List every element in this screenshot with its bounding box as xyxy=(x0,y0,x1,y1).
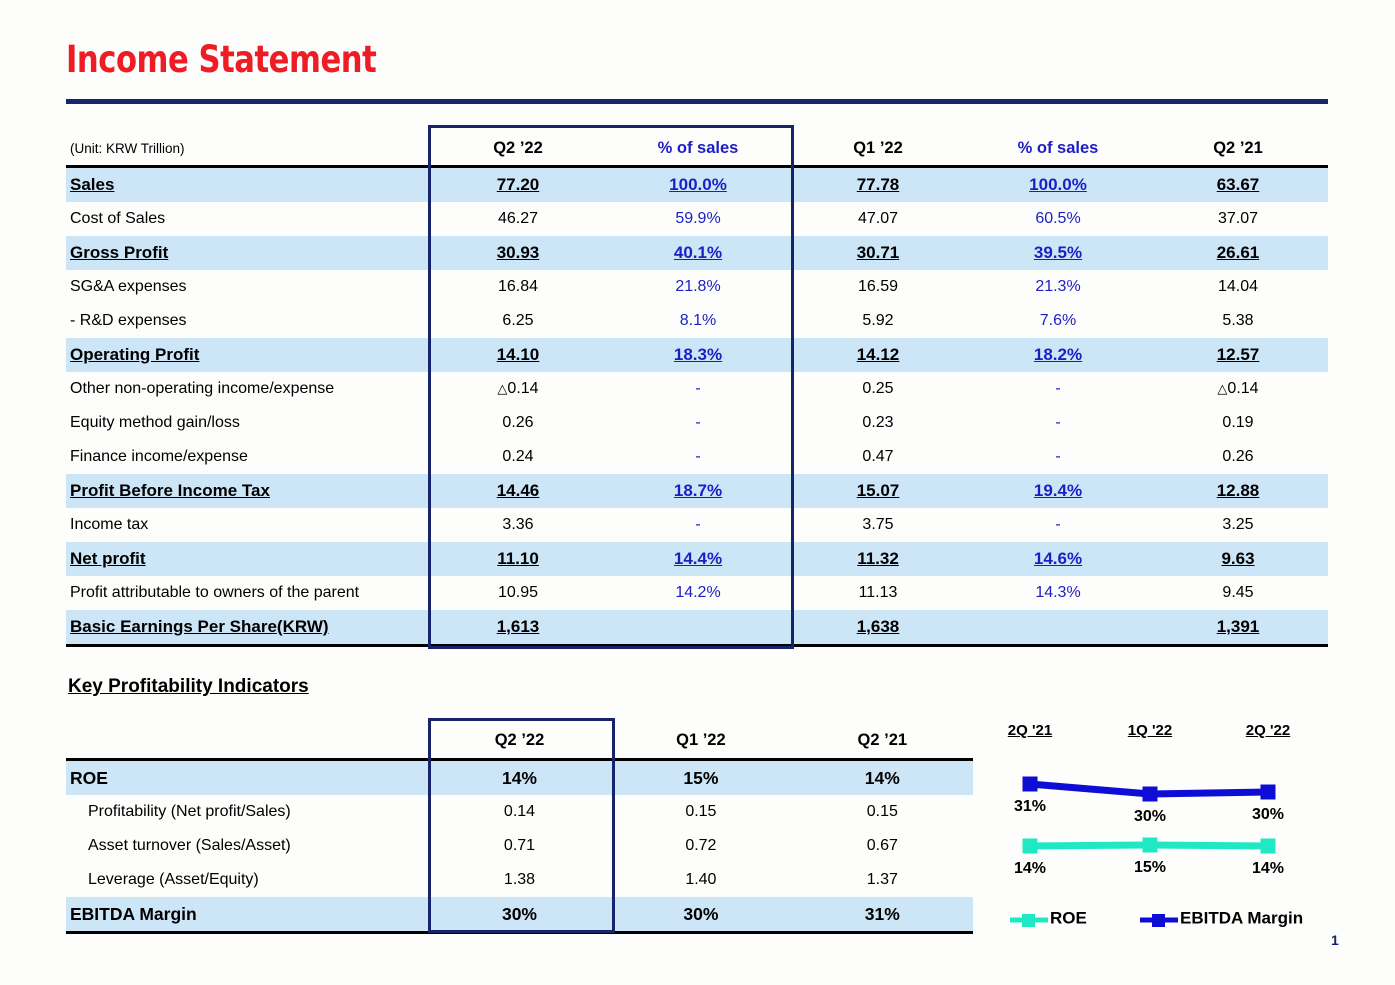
profitability-trend-chart: 2Q '211Q '222Q '2231%30%30%14%15%14% xyxy=(985,722,1315,937)
cell-value: 14.12 xyxy=(788,338,968,372)
table-header-row: (Unit: KRW Trillion)Q2 ’22% of salesQ1 ’… xyxy=(66,131,1328,167)
column-header-4: % of sales xyxy=(968,131,1148,167)
row-label: Finance income/expense xyxy=(66,440,428,474)
table-row: Gross Profit30.9340.1%30.7139.5%26.61 xyxy=(66,236,1328,270)
chart-marker xyxy=(1143,838,1158,853)
cell-value: 77.78 xyxy=(788,167,968,203)
kpi-row-label: EBITDA Margin xyxy=(66,897,429,933)
cell-value: 10.95 xyxy=(428,576,608,610)
kpi-cell-value: 14% xyxy=(792,760,973,796)
cell-value: 5.92 xyxy=(788,304,968,338)
cell-value: 16.84 xyxy=(428,270,608,304)
cell-value: 21.3% xyxy=(968,270,1148,304)
cell-value: 18.3% xyxy=(608,338,788,372)
cell-value: 9.63 xyxy=(1148,542,1328,576)
unit-note: (Unit: KRW Trillion) xyxy=(66,131,428,167)
legend-item-ebitda-margin: EBITDA Margin xyxy=(1140,908,1303,929)
cell-value: 15.07 xyxy=(788,474,968,508)
page-title: Income Statement xyxy=(66,38,376,81)
row-label: - R&D expenses xyxy=(66,304,428,338)
table-row: Equity method gain/loss0.26-0.23-0.19 xyxy=(66,406,1328,440)
cell-value: 14.04 xyxy=(1148,270,1328,304)
cell-value: 59.9% xyxy=(608,202,788,236)
cell-value: - xyxy=(968,406,1148,440)
kpi-row: Leverage (Asset/Equity)1.381.401.37 xyxy=(66,863,973,897)
cell-value: 14.2% xyxy=(608,576,788,610)
cell-value: 26.61 xyxy=(1148,236,1328,270)
legend-item-roe: ROE xyxy=(1010,908,1087,929)
table-row: Profit Before Income Tax14.4618.7%15.071… xyxy=(66,474,1328,508)
kpi-column-header-1: Q2 ’22 xyxy=(429,722,610,760)
cell-value: △0.14 xyxy=(1148,372,1328,406)
cell-value: 0.25 xyxy=(788,372,968,406)
cell-value: 14.3% xyxy=(968,576,1148,610)
legend-label: EBITDA Margin xyxy=(1180,909,1303,928)
row-label: Basic Earnings Per Share(KRW) xyxy=(66,610,428,646)
chart-category-header: 1Q '22 xyxy=(1110,722,1190,739)
cell-value: 14.46 xyxy=(428,474,608,508)
row-label: Equity method gain/loss xyxy=(66,406,428,440)
chart-marker xyxy=(1023,839,1038,854)
cell-value: 0.47 xyxy=(788,440,968,474)
chart-marker xyxy=(1261,785,1276,800)
chart-data-label: 14% xyxy=(1233,860,1303,878)
cell-value: - xyxy=(608,372,788,406)
kpi-row-label: Leverage (Asset/Equity) xyxy=(66,863,429,897)
cell-value xyxy=(608,610,788,646)
chart-data-label: 14% xyxy=(995,860,1065,878)
cell-value: 14.6% xyxy=(968,542,1148,576)
row-label: Profit attributable to owners of the par… xyxy=(66,576,428,610)
kpi-section-title: Key Profitability Indicators xyxy=(68,676,309,698)
kpi-column-header-2: Q1 ’22 xyxy=(610,722,791,760)
legend-swatch xyxy=(1010,912,1048,926)
column-header-1: Q2 ’22 xyxy=(428,131,608,167)
cell-value: 0.19 xyxy=(1148,406,1328,440)
cell-value: - xyxy=(608,440,788,474)
table-row: Operating Profit14.1018.3%14.1218.2%12.5… xyxy=(66,338,1328,372)
kpi-cell-value: 14% xyxy=(429,760,610,796)
cell-value: 0.26 xyxy=(428,406,608,440)
cell-value: 30.71 xyxy=(788,236,968,270)
row-label: Other non-operating income/expense xyxy=(66,372,428,406)
kpi-cell-value: 1.40 xyxy=(610,863,791,897)
cell-value: 12.57 xyxy=(1148,338,1328,372)
cell-value: - xyxy=(968,440,1148,474)
table-row: Basic Earnings Per Share(KRW)1,6131,6381… xyxy=(66,610,1328,646)
cell-value: 3.25 xyxy=(1148,508,1328,542)
cell-value: - xyxy=(968,508,1148,542)
cell-value: 16.59 xyxy=(788,270,968,304)
table-row: Sales77.20100.0%77.78100.0%63.67 xyxy=(66,167,1328,203)
kpi-cell-value: 0.15 xyxy=(610,795,791,829)
row-label: Operating Profit xyxy=(66,338,428,372)
row-label: Income tax xyxy=(66,508,428,542)
cell-value: 14.4% xyxy=(608,542,788,576)
table-row: Profit attributable to owners of the par… xyxy=(66,576,1328,610)
column-header-5: Q2 ’21 xyxy=(1148,131,1328,167)
cell-value: 0.26 xyxy=(1148,440,1328,474)
table-row: Income tax3.36-3.75-3.25 xyxy=(66,508,1328,542)
chart-legend: ROEEBITDA Margin xyxy=(1010,908,1310,938)
kpi-row-label: Profitability (Net profit/Sales) xyxy=(66,795,429,829)
kpi-cell-value: 0.71 xyxy=(429,829,610,863)
cell-value: 14.10 xyxy=(428,338,608,372)
table-row: Finance income/expense0.24-0.47-0.26 xyxy=(66,440,1328,474)
row-label: Profit Before Income Tax xyxy=(66,474,428,508)
cell-value: 100.0% xyxy=(968,167,1148,203)
kpi-header-blank xyxy=(66,722,429,760)
legend-swatch xyxy=(1140,912,1178,926)
row-label: Sales xyxy=(66,167,428,203)
cell-value: 39.5% xyxy=(968,236,1148,270)
page-number: 1 xyxy=(1331,932,1339,948)
kpi-cell-value: 15% xyxy=(610,760,791,796)
kpi-cell-value: 0.72 xyxy=(610,829,791,863)
cell-value: - xyxy=(968,372,1148,406)
title-divider xyxy=(66,99,1328,104)
cell-value: 6.25 xyxy=(428,304,608,338)
kpi-cell-value: 31% xyxy=(792,897,973,933)
cell-value: 40.1% xyxy=(608,236,788,270)
chart-category-header: 2Q '21 xyxy=(990,722,1070,739)
kpi-cell-value: 1.37 xyxy=(792,863,973,897)
cell-value: 18.7% xyxy=(608,474,788,508)
legend-label: ROE xyxy=(1050,909,1087,928)
kpi-row-label: ROE xyxy=(66,760,429,796)
cell-value: 18.2% xyxy=(968,338,1148,372)
chart-marker xyxy=(1023,777,1038,792)
table-row: Other non-operating income/expense△0.14-… xyxy=(66,372,1328,406)
kpi-cell-value: 0.15 xyxy=(792,795,973,829)
kpi-column-header-3: Q2 ’21 xyxy=(792,722,973,760)
row-label: SG&A expenses xyxy=(66,270,428,304)
chart-svg xyxy=(985,722,1315,937)
column-header-3: Q1 ’22 xyxy=(788,131,968,167)
chart-data-label: 30% xyxy=(1115,808,1185,826)
cell-value: 12.88 xyxy=(1148,474,1328,508)
chart-marker xyxy=(1143,787,1158,802)
kpi-cell-value: 30% xyxy=(429,897,610,933)
cell-value: 1,638 xyxy=(788,610,968,646)
cell-value: 77.20 xyxy=(428,167,608,203)
kpi-row: EBITDA Margin30%30%31% xyxy=(66,897,973,933)
kpi-header-row: Q2 ’22Q1 ’22Q2 ’21 xyxy=(66,722,973,760)
cell-value: 3.75 xyxy=(788,508,968,542)
cell-value: 46.27 xyxy=(428,202,608,236)
income-statement-table: (Unit: KRW Trillion)Q2 ’22% of salesQ1 ’… xyxy=(66,131,1328,647)
kpi-row-label: Asset turnover (Sales/Asset) xyxy=(66,829,429,863)
kpi-cell-value: 0.67 xyxy=(792,829,973,863)
table-row: SG&A expenses16.8421.8%16.5921.3%14.04 xyxy=(66,270,1328,304)
kpi-row: Asset turnover (Sales/Asset)0.710.720.67 xyxy=(66,829,973,863)
cell-value: 3.36 xyxy=(428,508,608,542)
cell-value: 11.13 xyxy=(788,576,968,610)
cell-value: 30.93 xyxy=(428,236,608,270)
row-label: Net profit xyxy=(66,542,428,576)
table-row: Net profit11.1014.4%11.3214.6%9.63 xyxy=(66,542,1328,576)
cell-value: 37.07 xyxy=(1148,202,1328,236)
row-label: Gross Profit xyxy=(66,236,428,270)
kpi-row: Profitability (Net profit/Sales)0.140.15… xyxy=(66,795,973,829)
kpi-row: ROE14%15%14% xyxy=(66,760,973,796)
cell-value: 11.10 xyxy=(428,542,608,576)
cell-value: - xyxy=(608,508,788,542)
cell-value: 21.8% xyxy=(608,270,788,304)
cell-value xyxy=(968,610,1148,646)
cell-value: 63.67 xyxy=(1148,167,1328,203)
chart-data-label: 15% xyxy=(1115,859,1185,877)
cell-value: 0.24 xyxy=(428,440,608,474)
chart-data-label: 30% xyxy=(1233,806,1303,824)
chart-marker xyxy=(1261,839,1276,854)
cell-value: 9.45 xyxy=(1148,576,1328,610)
kpi-table: Q2 ’22Q1 ’22Q2 ’21ROE14%15%14%Profitabil… xyxy=(66,722,973,934)
cell-value: 0.23 xyxy=(788,406,968,440)
cell-value: 100.0% xyxy=(608,167,788,203)
cell-value: 47.07 xyxy=(788,202,968,236)
kpi-cell-value: 30% xyxy=(610,897,791,933)
cell-value: 60.5% xyxy=(968,202,1148,236)
cell-value: 8.1% xyxy=(608,304,788,338)
cell-value: 19.4% xyxy=(968,474,1148,508)
cell-value: 7.6% xyxy=(968,304,1148,338)
row-label: Cost of Sales xyxy=(66,202,428,236)
table-row: - R&D expenses6.258.1%5.927.6%5.38 xyxy=(66,304,1328,338)
kpi-cell-value: 1.38 xyxy=(429,863,610,897)
chart-category-header: 2Q '22 xyxy=(1228,722,1308,739)
cell-value: 5.38 xyxy=(1148,304,1328,338)
column-header-2: % of sales xyxy=(608,131,788,167)
cell-value: - xyxy=(608,406,788,440)
cell-value: △0.14 xyxy=(428,372,608,406)
kpi-cell-value: 0.14 xyxy=(429,795,610,829)
cell-value: 1,391 xyxy=(1148,610,1328,646)
cell-value: 1,613 xyxy=(428,610,608,646)
chart-data-label: 31% xyxy=(995,798,1065,816)
cell-value: 11.32 xyxy=(788,542,968,576)
table-row: Cost of Sales46.2759.9%47.0760.5%37.07 xyxy=(66,202,1328,236)
